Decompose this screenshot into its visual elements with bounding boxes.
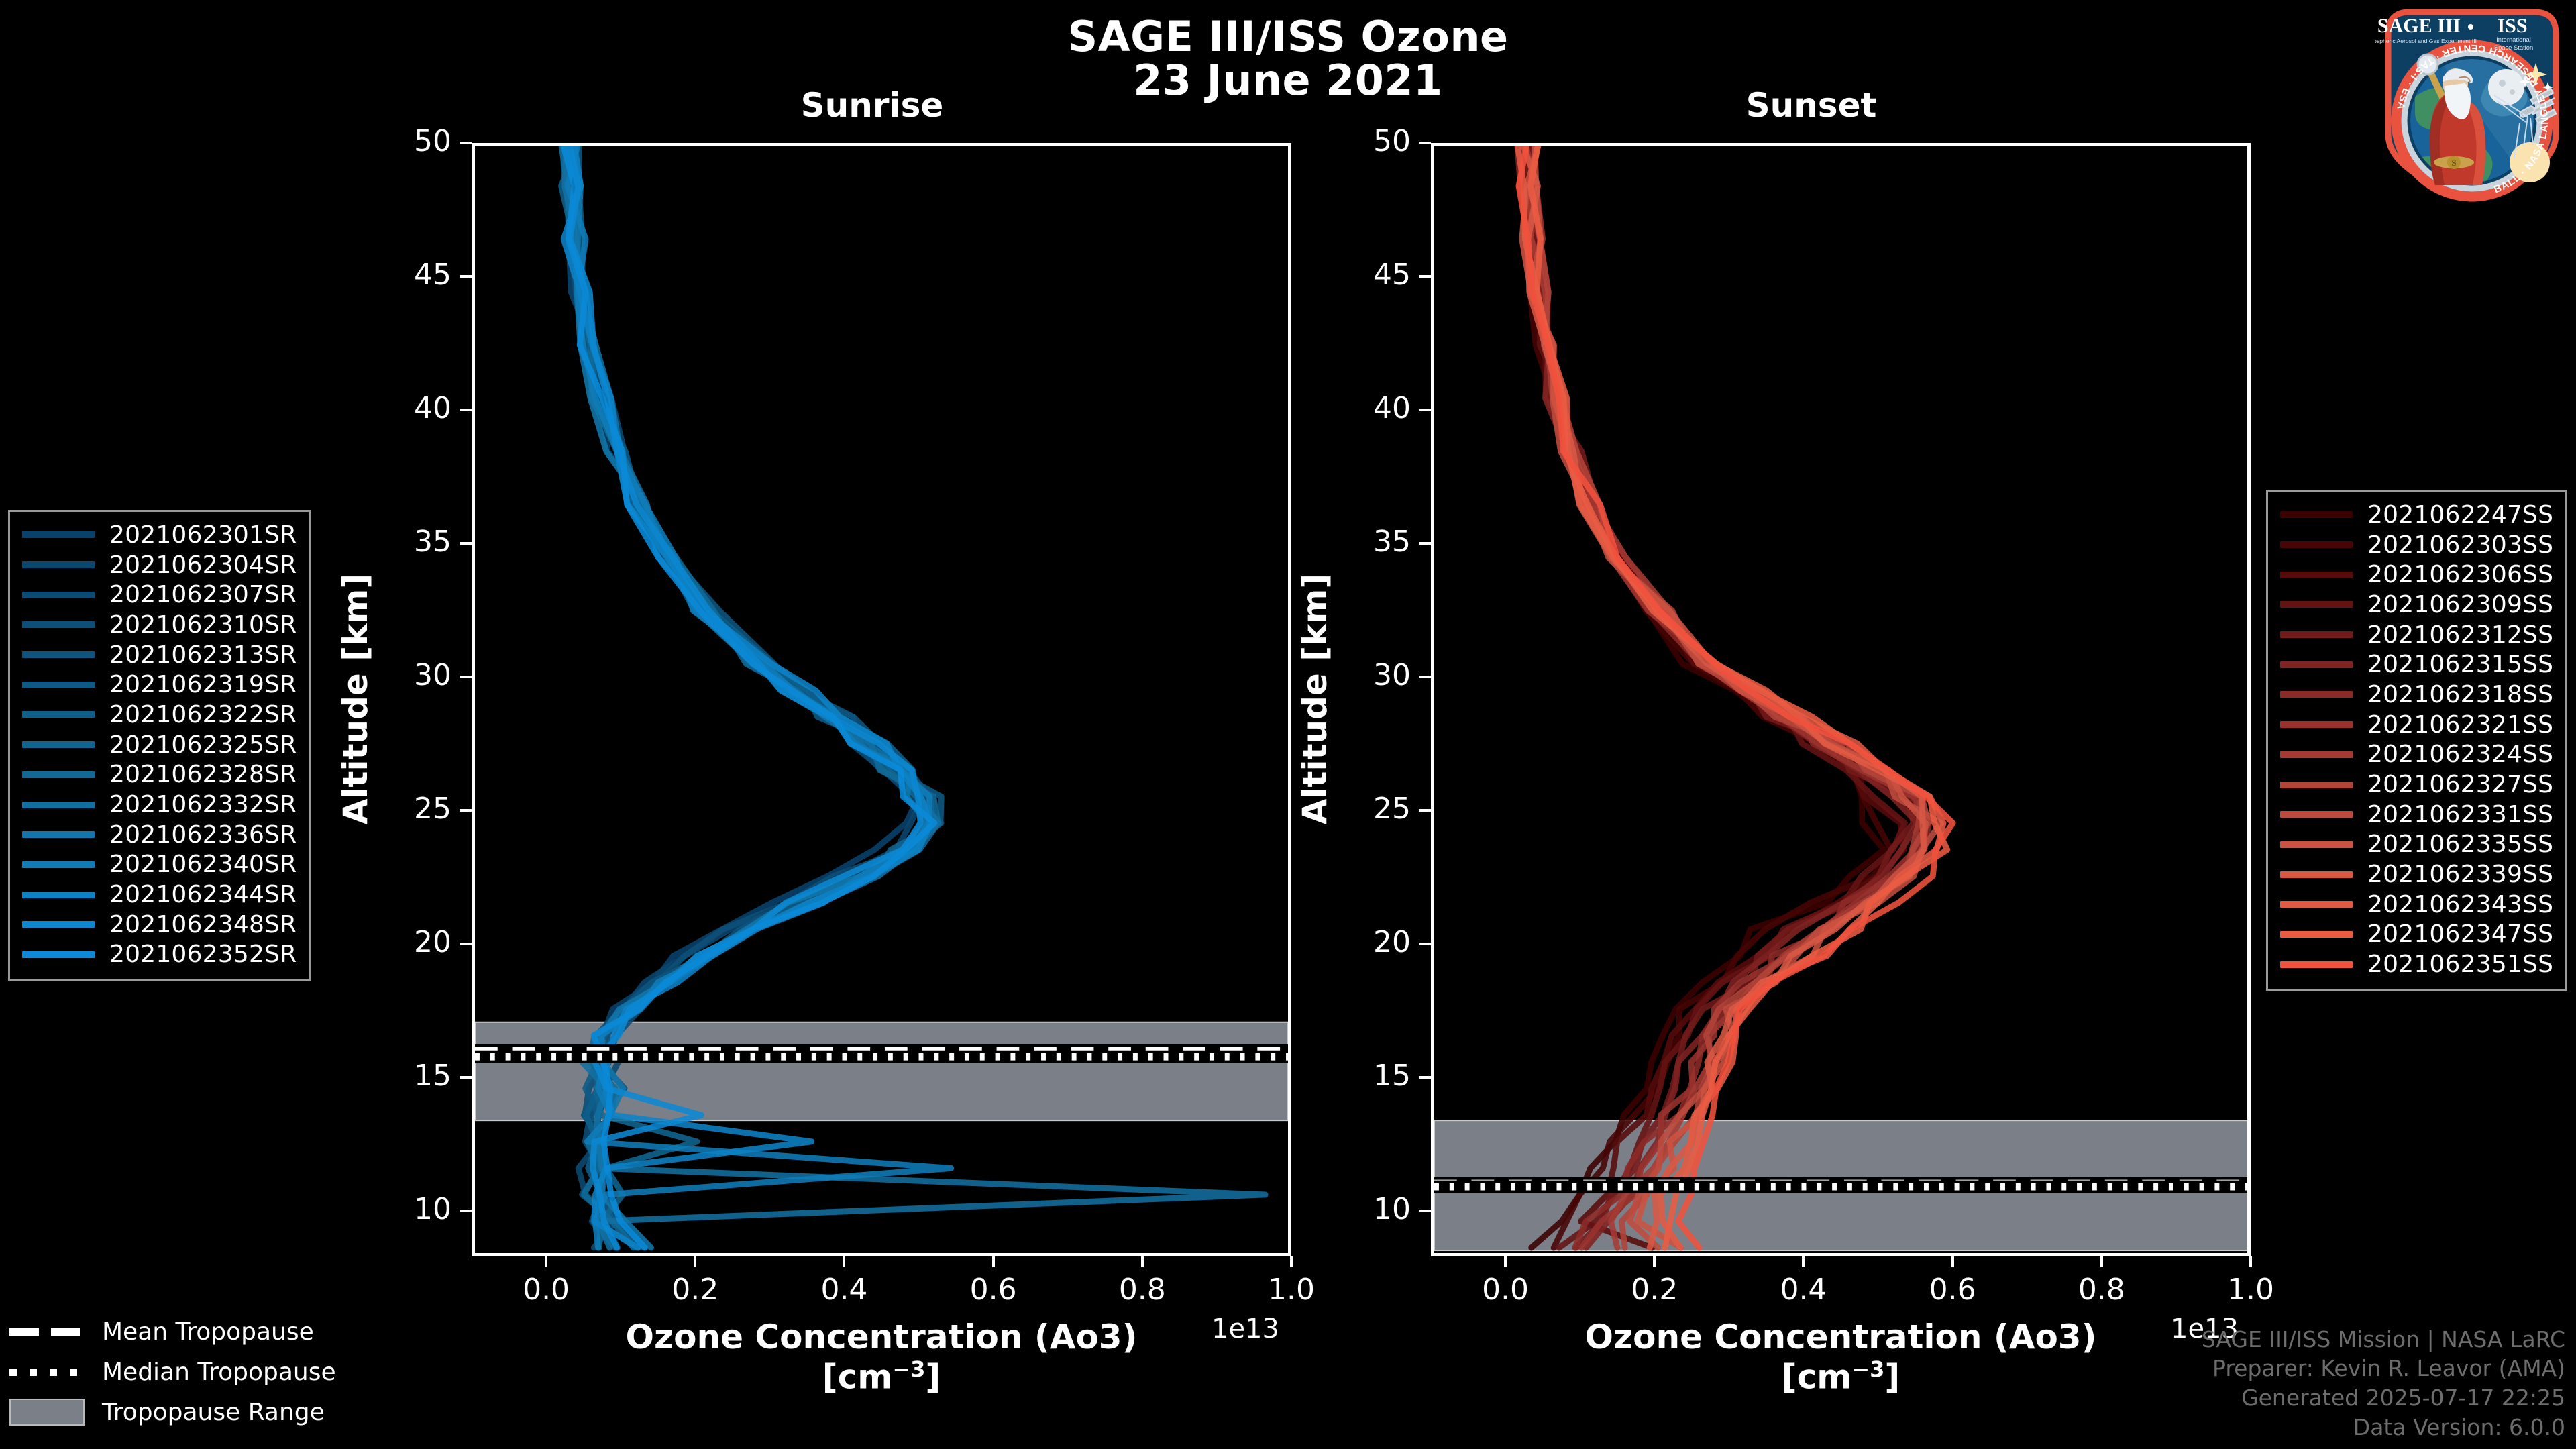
legend-series-label: 2021062347SS bbox=[2367, 920, 2553, 948]
legend-series-label: 2021062339SS bbox=[2367, 861, 2553, 888]
credit-line-2: Preparer: Kevin R. Leavor (AMA) bbox=[2202, 1354, 2565, 1383]
legend-item[interactable]: 2021062340SR bbox=[22, 850, 297, 880]
sunrise-x-tick-label: 0.2 bbox=[641, 1273, 749, 1307]
sunrise-y-tick-mark bbox=[460, 1076, 472, 1079]
legend-color-swatch bbox=[22, 771, 95, 778]
legend-item[interactable]: 2021062318SS bbox=[2280, 680, 2553, 710]
legend-color-swatch bbox=[2280, 511, 2353, 518]
legend-item[interactable]: 2021062306SS bbox=[2280, 559, 2553, 590]
sunset-y-tick-mark bbox=[1419, 142, 1431, 144]
sunrise-y-tick-label: 35 bbox=[371, 525, 451, 559]
legend-item[interactable]: 2021062310SR bbox=[22, 610, 297, 640]
sunrise-y-tick-label: 20 bbox=[371, 925, 451, 959]
legend-color-swatch bbox=[2280, 871, 2353, 878]
legend-color-swatch bbox=[2280, 841, 2353, 848]
legend-color-swatch bbox=[22, 561, 95, 568]
sunset-y-tick-label: 45 bbox=[1330, 258, 1411, 292]
sunset-y-tick-label: 15 bbox=[1330, 1059, 1411, 1093]
legend-color-swatch bbox=[22, 921, 95, 928]
legend-series-label: 2021062321SS bbox=[2367, 711, 2553, 739]
credit-line-1: SAGE III/ISS Mission | NASA LaRC bbox=[2202, 1325, 2565, 1354]
sunset-x-tick-label: 0.4 bbox=[1750, 1273, 1857, 1307]
sunrise-y-tick-label: 40 bbox=[371, 391, 451, 425]
legend-color-swatch bbox=[2280, 691, 2353, 698]
patch-title-sage3: SAGE III bbox=[2377, 15, 2461, 37]
legend-item[interactable]: 2021062315SS bbox=[2280, 649, 2553, 680]
legend-item[interactable]: 2021062328SR bbox=[22, 760, 297, 790]
legend-color-swatch bbox=[2280, 782, 2353, 788]
legend-color-swatch bbox=[22, 711, 95, 718]
sunset-x-tick-mark bbox=[2249, 1256, 2252, 1267]
sunset-y-tick-mark bbox=[1419, 943, 1431, 945]
legend-item[interactable]: 2021062343SS bbox=[2280, 890, 2553, 920]
sunset-x-tick-mark bbox=[1951, 1256, 1954, 1267]
sunset-x-tick-mark bbox=[1653, 1256, 1656, 1267]
ozone-profile-line bbox=[1517, 146, 1943, 1248]
ozone-profile-line bbox=[1531, 146, 1928, 1248]
sunset-x-tick-mark bbox=[1802, 1256, 1805, 1267]
sunset-x-tick-mark bbox=[2100, 1256, 2103, 1267]
ozone-profile-line bbox=[1530, 146, 1921, 1248]
legend-color-swatch bbox=[22, 741, 95, 748]
mean-tropopause-label: Mean Tropopause bbox=[102, 1318, 314, 1346]
sunset-y-tick-mark bbox=[1419, 1210, 1431, 1212]
sunrise-x-tick-label: 0.6 bbox=[940, 1273, 1047, 1307]
sunrise-x-tick-label: 0.0 bbox=[492, 1273, 600, 1307]
legend-color-swatch bbox=[2280, 601, 2353, 608]
legend-series-label: 2021062332SR bbox=[109, 791, 297, 818]
sunrise-y-tick-mark bbox=[460, 676, 472, 678]
sunset-y-axis-title: Altitude [km] bbox=[1295, 491, 1334, 907]
dashed-line-icon bbox=[9, 1328, 85, 1336]
legend-color-swatch bbox=[22, 682, 95, 688]
legend-item[interactable]: 2021062313SR bbox=[22, 640, 297, 670]
sunset-y-tick-label: 40 bbox=[1330, 391, 1411, 425]
sunrise-x-tick-mark bbox=[992, 1256, 995, 1267]
sunset-y-tick-label: 25 bbox=[1330, 792, 1411, 826]
sunrise-y-tick-label: 10 bbox=[371, 1192, 451, 1226]
legend-color-swatch bbox=[22, 621, 95, 628]
legend-series-label: 2021062319SR bbox=[109, 671, 297, 698]
legend-color-swatch bbox=[2280, 572, 2353, 578]
sunset-plot-area[interactable] bbox=[1431, 143, 2251, 1256]
legend-series-label: 2021062318SS bbox=[2367, 681, 2553, 708]
sunset-y-tick-mark bbox=[1419, 676, 1431, 678]
legend-item[interactable]: 2021062309SS bbox=[2280, 590, 2553, 620]
legend-series-label: 2021062304SR bbox=[109, 551, 297, 579]
legend-item[interactable]: 2021062347SS bbox=[2280, 920, 2553, 950]
svg-text:S: S bbox=[2451, 158, 2456, 168]
sunrise-y-tick-mark bbox=[460, 809, 472, 812]
legend-color-swatch bbox=[2280, 961, 2353, 968]
sunrise-x-tick-label: 1.0 bbox=[1238, 1273, 1345, 1307]
legend-series-label: 2021062336SR bbox=[109, 821, 297, 849]
legend-color-swatch bbox=[22, 651, 95, 658]
sunset-y-tick-label: 10 bbox=[1330, 1192, 1411, 1226]
title-line-1: SAGE III/ISS Ozone bbox=[0, 15, 2576, 58]
legend-series-label: 2021062335SS bbox=[2367, 830, 2553, 858]
sunrise-y-tick-mark bbox=[460, 142, 472, 144]
legend-item[interactable]: 2021062335SS bbox=[2280, 830, 2553, 860]
sunrise-plot-area[interactable] bbox=[472, 143, 1291, 1256]
sunset-y-tick-mark bbox=[1419, 542, 1431, 545]
legend-color-swatch bbox=[2280, 721, 2353, 728]
sunset-x-axis-units: [cm−3] bbox=[1364, 1357, 2317, 1397]
credit-line-3: Generated 2025-07-17 22:25 bbox=[2202, 1383, 2565, 1413]
legend-color-swatch bbox=[2280, 901, 2353, 908]
legend-item[interactable]: 2021062247SS bbox=[2280, 500, 2553, 530]
sunset-y-tick-mark bbox=[1419, 809, 1431, 812]
sunset-y-tick-mark bbox=[1419, 1076, 1431, 1079]
legend-item[interactable]: 2021062321SS bbox=[2280, 710, 2553, 740]
sunrise-x-tick-mark bbox=[545, 1256, 547, 1267]
sage3-iss-mission-patch-logo: S BALL · NASA LANGLEY RESEARCH CENTER · … bbox=[2375, 3, 2569, 204]
sunrise-y-tick-label: 45 bbox=[371, 258, 451, 292]
sunrise-y-tick-mark bbox=[460, 542, 472, 545]
legend-color-swatch bbox=[2280, 661, 2353, 668]
sunrise-panel-heading: Sunrise bbox=[402, 86, 1342, 125]
legend-series-label: 2021062313SR bbox=[109, 641, 297, 669]
sunset-y-tick-label: 50 bbox=[1330, 124, 1411, 158]
sunset-y-tick-mark bbox=[1419, 409, 1431, 411]
legend-series-label: 2021062315SS bbox=[2367, 651, 2553, 678]
patch-subtitle-right-1: International bbox=[2496, 36, 2531, 43]
sunset-x-tick-label: 0.8 bbox=[2048, 1273, 2155, 1307]
legend-item[interactable]: 2021062312SS bbox=[2280, 620, 2553, 650]
sunrise-y-tick-mark bbox=[460, 943, 472, 945]
legend-series-label: 2021062312SS bbox=[2367, 621, 2553, 649]
legend-series-label: 2021062340SR bbox=[109, 851, 297, 878]
patch-subtitle-right-2: Space Station bbox=[2494, 44, 2533, 51]
legend-color-swatch bbox=[2280, 931, 2353, 938]
tropopause-legend: Mean Tropopause Median Tropopause Tropop… bbox=[9, 1311, 336, 1432]
sunrise-x-axis-units: [cm−3] bbox=[405, 1357, 1358, 1397]
sunrise-x-tick-mark bbox=[1290, 1256, 1293, 1267]
sunrise-y-tick-label: 30 bbox=[371, 658, 451, 692]
legend-item[interactable]: 2021062331SS bbox=[2280, 800, 2553, 830]
legend-color-swatch bbox=[22, 892, 95, 898]
dotted-line-icon bbox=[9, 1368, 85, 1376]
legend-series-label: 2021062351SS bbox=[2367, 951, 2553, 978]
legend-item-median-tropopause: Median Tropopause bbox=[9, 1352, 336, 1392]
sunset-x-tick-mark bbox=[1504, 1256, 1507, 1267]
legend-color-swatch bbox=[2280, 811, 2353, 818]
sunrise-exponent-label: 1e13 bbox=[1212, 1313, 1279, 1344]
legend-item[interactable]: 2021062319SR bbox=[22, 669, 297, 700]
legend-color-swatch bbox=[2280, 631, 2353, 638]
legend-item-mean-tropopause: Mean Tropopause bbox=[9, 1311, 336, 1352]
sunrise-y-tick-label: 25 bbox=[371, 792, 451, 826]
legend-color-swatch bbox=[22, 802, 95, 808]
legend-series-label: 2021062352SR bbox=[109, 941, 297, 968]
legend-series-label: 2021062328SR bbox=[109, 761, 297, 788]
legend-item[interactable]: 2021062327SS bbox=[2280, 769, 2553, 800]
credits-block: SAGE III/ISS Mission | NASA LaRC Prepare… bbox=[2202, 1325, 2565, 1443]
legend-series-label: 2021062309SS bbox=[2367, 591, 2553, 619]
legend-item-tropopause-range: Tropopause Range bbox=[9, 1392, 336, 1432]
sunrise-y-tick-mark bbox=[460, 275, 472, 278]
legend-item[interactable]: 2021062344SR bbox=[22, 879, 297, 910]
legend-series-label: 2021062307SR bbox=[109, 581, 297, 608]
legend-item[interactable]: 2021062325SR bbox=[22, 730, 297, 760]
sunset-x-tick-label: 0.0 bbox=[1452, 1273, 1559, 1307]
sunrise-x-tick-label: 0.8 bbox=[1089, 1273, 1196, 1307]
sunset-y-tick-label: 30 bbox=[1330, 658, 1411, 692]
legend-color-swatch bbox=[22, 592, 95, 598]
legend-color-swatch bbox=[22, 861, 95, 868]
sunrise-x-tick-label: 0.4 bbox=[790, 1273, 898, 1307]
legend-item[interactable]: 2021062332SR bbox=[22, 790, 297, 820]
legend-series-label: 2021062324SS bbox=[2367, 741, 2553, 768]
legend-series-label: 2021062344SR bbox=[109, 881, 297, 908]
credit-line-4: Data Version: 6.0.0 bbox=[2202, 1413, 2565, 1442]
sunset-x-tick-label: 0.6 bbox=[1899, 1273, 2006, 1307]
sunrise-y-tick-mark bbox=[460, 1210, 472, 1212]
legend-series-label: 2021062343SS bbox=[2367, 891, 2553, 918]
sunset-x-tick-label: 1.0 bbox=[2197, 1273, 2304, 1307]
sunset-x-tick-label: 0.2 bbox=[1601, 1273, 1708, 1307]
legend-series-label: 2021062310SR bbox=[109, 611, 297, 639]
legend-series-label: 2021062325SR bbox=[109, 731, 297, 759]
sunrise-x-tick-mark bbox=[694, 1256, 696, 1267]
gray-band-swatch-icon bbox=[9, 1399, 85, 1426]
patch-subtitle-left: Stratospheric Aerosol and Gas Experiment… bbox=[2375, 38, 2477, 44]
legend-series-label: 2021062331SS bbox=[2367, 801, 2553, 828]
legend-series-label: 2021062306SS bbox=[2367, 561, 2553, 588]
legend-item[interactable]: 2021062304SR bbox=[22, 550, 297, 580]
sunrise-y-axis-title: Altitude [km] bbox=[336, 491, 375, 907]
legend-color-swatch bbox=[2280, 751, 2353, 758]
legend-item[interactable]: 2021062352SR bbox=[22, 940, 297, 970]
ozone-profile-line bbox=[1530, 146, 1941, 1248]
legend-item[interactable]: 2021062322SR bbox=[22, 700, 297, 730]
patch-title-iss: ISS bbox=[2497, 15, 2527, 37]
sunset-panel-heading: Sunset bbox=[1342, 86, 2281, 125]
sunrise-x-tick-mark bbox=[843, 1256, 845, 1267]
sunrise-y-tick-label: 15 bbox=[371, 1059, 451, 1093]
median-tropopause-label: Median Tropopause bbox=[102, 1358, 336, 1386]
legend-item[interactable]: 2021062324SS bbox=[2280, 740, 2553, 770]
legend-color-swatch bbox=[2280, 541, 2353, 548]
legend-series-label: 2021062348SR bbox=[109, 911, 297, 938]
legend-item[interactable]: 2021062336SR bbox=[22, 820, 297, 850]
legend-color-swatch bbox=[22, 531, 95, 538]
ozone-profile-line bbox=[1526, 146, 1927, 1248]
legend-item[interactable]: 2021062307SR bbox=[22, 580, 297, 610]
legend-item[interactable]: 2021062301SR bbox=[22, 520, 297, 550]
sunset-y-tick-mark bbox=[1419, 275, 1431, 278]
legend-series-label: 2021062322SR bbox=[109, 701, 297, 729]
sunset-y-tick-label: 35 bbox=[1330, 525, 1411, 559]
sunrise-y-tick-label: 50 bbox=[371, 124, 451, 158]
legend-series-label: 2021062303SS bbox=[2367, 531, 2553, 559]
legend-item[interactable]: 2021062348SR bbox=[22, 910, 297, 940]
legend-item[interactable]: 2021062339SS bbox=[2280, 859, 2553, 890]
legend-color-swatch bbox=[22, 951, 95, 958]
legend-item[interactable]: 2021062351SS bbox=[2280, 949, 2553, 979]
legend-series-label: 2021062327SS bbox=[2367, 771, 2553, 798]
sunrise-x-tick-mark bbox=[1141, 1256, 1144, 1267]
sunrise-y-tick-mark bbox=[460, 409, 472, 411]
sunset-series-legend[interactable]: 2021062247SS2021062303SS2021062306SS2021… bbox=[2266, 490, 2567, 991]
legend-color-swatch bbox=[22, 831, 95, 838]
tropopause-range-label: Tropopause Range bbox=[102, 1399, 325, 1426]
sunrise-series-legend[interactable]: 2021062301SR2021062304SR2021062307SR2021… bbox=[8, 510, 311, 981]
legend-item[interactable]: 2021062303SS bbox=[2280, 530, 2553, 560]
ozone-profile-line bbox=[1519, 146, 1953, 1248]
sunset-y-tick-label: 20 bbox=[1330, 925, 1411, 959]
legend-series-label: 2021062247SS bbox=[2367, 501, 2553, 529]
legend-series-label: 2021062301SR bbox=[109, 521, 297, 549]
